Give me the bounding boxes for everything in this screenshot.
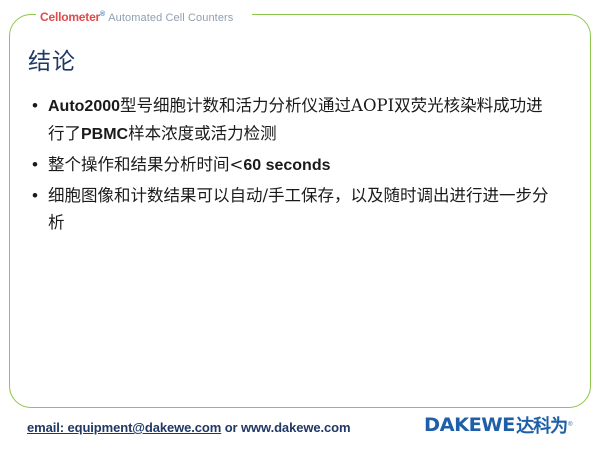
dakewe-logo-latin-text: DAKEWE xyxy=(424,414,515,436)
bullet-marker-icon: • xyxy=(28,92,48,119)
bullet-marker-icon: • xyxy=(28,182,48,209)
footer-website-text: or www.dakewe.com xyxy=(221,420,350,435)
cellometer-brand-wordmark: Cellometer®Automated Cell Counters xyxy=(40,6,233,23)
list-item-text: 整个操作和结果分析时间<60 seconds xyxy=(48,151,556,179)
list-item: • Auto2000型号细胞计数和活力分析仪通过AOPI双荧光核染料成功进行了P… xyxy=(28,92,556,148)
list-item-text: 细胞图像和计数结果可以自动/手工保存，以及随时调出进行进一步分析 xyxy=(48,182,556,236)
brand-tagline-text: Automated Cell Counters xyxy=(108,12,233,24)
list-item-text-segment: 60 seconds xyxy=(243,157,330,174)
list-item-text-segment: 整个操作和结果分析时间< xyxy=(48,155,243,174)
registered-trademark-icon: ® xyxy=(100,11,105,18)
dakewe-logo: DAKEWE达科为® xyxy=(424,412,573,438)
bullet-marker-icon: • xyxy=(28,151,48,178)
list-item-text-segment: 细胞图像和计数结果可以自动/手工保存，以及随时调出进行进一步分析 xyxy=(48,186,549,232)
list-item-text-segment: 样本浓度或活力检测 xyxy=(128,124,277,143)
email-link[interactable]: email: equipment@dakewe.com xyxy=(27,420,221,435)
page-title: 结论 xyxy=(28,42,76,76)
list-item-text: Auto2000型号细胞计数和活力分析仪通过AOPI双荧光核染料成功进行了PBM… xyxy=(48,92,556,148)
list-item: • 细胞图像和计数结果可以自动/手工保存，以及随时调出进行进一步分析 xyxy=(28,182,556,236)
list-item: • 整个操作和结果分析时间<60 seconds xyxy=(28,151,556,179)
list-item-text-segment: PBMC xyxy=(81,126,128,143)
conclusion-bullet-list: • Auto2000型号细胞计数和活力分析仪通过AOPI双荧光核染料成功进行了P… xyxy=(28,92,556,239)
list-item-text-segment: Auto2000 xyxy=(48,98,120,115)
dakewe-logo-chinese-text: 达科为 xyxy=(516,412,567,438)
brand-name-text: Cellometer xyxy=(40,10,100,24)
registered-trademark-icon: ® xyxy=(568,422,572,428)
footer-contact-line: email: equipment@dakewe.com or www.dakew… xyxy=(27,420,350,435)
